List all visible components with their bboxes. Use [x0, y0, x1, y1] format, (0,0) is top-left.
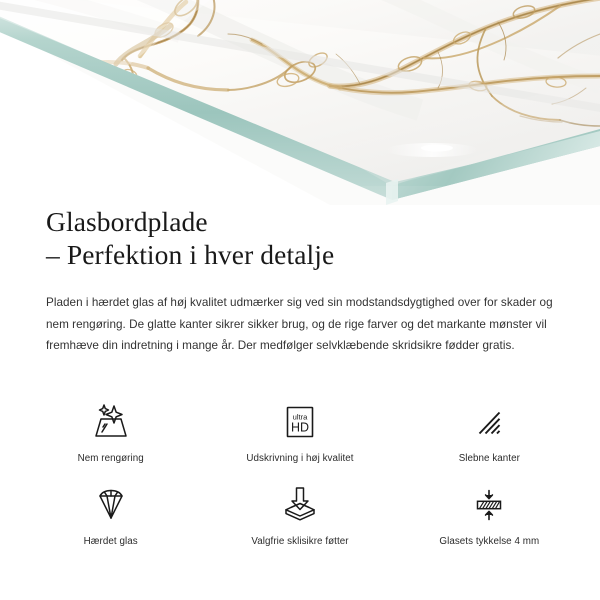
feature-label: Glasets tykkelse 4 mm: [439, 536, 539, 548]
thickness-icon: [468, 483, 510, 527]
page-title-line-2: – Perfektion i hver detalje: [46, 238, 554, 271]
product-infographic-page: Glasbordplade – Perfektion i hver detalj…: [0, 0, 600, 600]
feature-label: Hærdet glas: [84, 536, 138, 548]
page-title: Glasbordplade – Perfektion i hver detalj…: [0, 205, 600, 271]
sparkle-plate-icon: [88, 400, 134, 444]
feature-item-print-quality: ultra HD Udskrivning i høj kvalitet: [205, 400, 394, 483]
feature-item-tempered-glass: Hærdet glas: [16, 483, 205, 566]
feature-item-polished-edges: Slebne kanter: [395, 400, 584, 483]
feature-item-anti-slip-feet: Valgfrie sklisikre føtter: [205, 483, 394, 566]
ultra-hd-bottom-text: HD: [291, 421, 309, 435]
feature-grid: Nem rengøring ultra HD Udskrivning i høj…: [0, 400, 600, 566]
feature-label: Nem rengøring: [78, 453, 144, 465]
feature-label: Valgfrie sklisikre føtter: [251, 536, 348, 548]
feature-label: Udskrivning i høj kvalitet: [246, 453, 353, 465]
anti-slip-feet-icon: [278, 483, 322, 527]
feature-item-easy-cleaning: Nem rengøring: [16, 400, 205, 483]
hero-product-photo: [0, 0, 600, 205]
text-content-block: Glasbordplade – Perfektion i hver detalj…: [0, 205, 600, 357]
product-description: Pladen i hærdet glas af høj kvalitet udm…: [0, 271, 600, 357]
page-title-line-1: Glasbordplade: [46, 206, 208, 237]
feature-item-glass-thickness: Glasets tykkelse 4 mm: [395, 483, 584, 566]
feature-label: Slebne kanter: [459, 453, 520, 465]
ultra-hd-icon: ultra HD: [280, 400, 320, 444]
glass-tabletop-illustration: [0, 0, 600, 205]
polished-edge-icon: [469, 400, 509, 444]
diamond-icon: [89, 483, 133, 527]
